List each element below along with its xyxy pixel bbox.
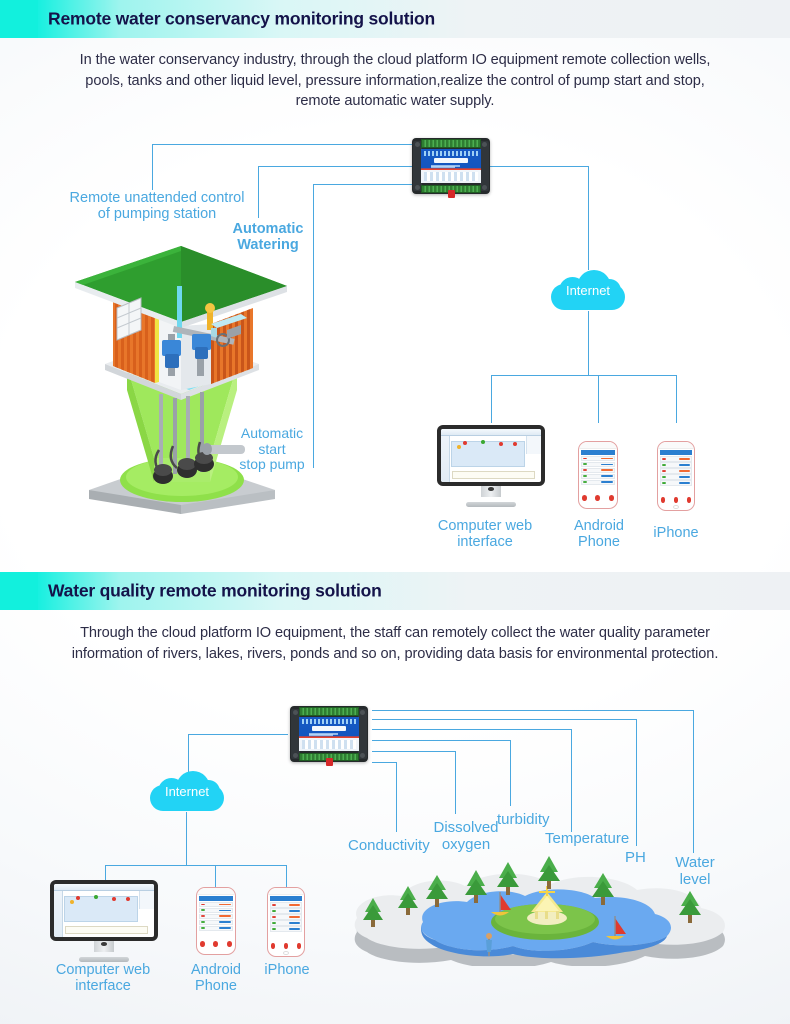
computer-web-interface-device-2 — [50, 880, 158, 962]
internet-cloud-1: Internet — [551, 270, 625, 310]
label-iphone-2: iPhone — [252, 962, 322, 978]
label-turbidity: turbidity — [497, 812, 550, 829]
line-automatic-pump-h — [313, 184, 414, 185]
line-module-to-internet-h — [489, 166, 589, 167]
line-to-iphone — [676, 375, 677, 423]
android-phone-device-1 — [578, 441, 618, 509]
internet-cloud-2: Internet — [150, 771, 224, 811]
computer-web-interface-device-1 — [437, 425, 545, 507]
line-module-to-internet-2-h — [188, 734, 288, 735]
line-to-iphone-2 — [286, 865, 287, 887]
line-internet-2-down — [186, 812, 187, 865]
line-to-android-2 — [215, 865, 216, 887]
line-sensor-dissolved-oxygen-h — [372, 751, 455, 752]
line-sensor-turbidity-h — [372, 740, 510, 741]
line-device-rail-2 — [105, 865, 286, 866]
pumping-station-illustration — [55, 218, 307, 514]
label-android-phone-2: Android Phone — [175, 962, 257, 994]
section-1-accent-block — [0, 0, 38, 38]
line-to-computer — [491, 375, 492, 423]
line-sensor-water-level-h — [372, 710, 693, 711]
line-sensor-conductivity-h — [372, 762, 396, 763]
line-automatic-watering-h — [258, 166, 414, 167]
internet-cloud-1-label: Internet — [551, 283, 625, 298]
label-computer-web-interface-2: Computer web interface — [42, 962, 164, 994]
iphone-device-1 — [657, 441, 695, 511]
section-2-header-band: Water quality remote monitoring solution — [0, 572, 790, 610]
line-module-to-internet-2-v — [188, 734, 189, 774]
lake-illustration — [345, 856, 737, 966]
infographic-page: Remote water conservancy monitoring solu… — [0, 0, 790, 1024]
line-sensor-ph-v — [636, 719, 637, 846]
section-1-header-band: Remote water conservancy monitoring solu… — [0, 0, 790, 38]
label-conductivity: Conductivity — [348, 838, 430, 855]
section-1-intro: In the water conservancy industry, throu… — [0, 50, 790, 112]
section-2-accent-block — [0, 572, 38, 610]
label-computer-web-interface-1: Computer web interface — [424, 518, 546, 550]
line-remote-control-h — [152, 144, 414, 145]
section-2-intro: Through the cloud platform IO equipment,… — [0, 623, 790, 664]
internet-cloud-2-label: Internet — [150, 784, 224, 799]
io-module-device-1 — [412, 138, 490, 194]
io-module-device-2 — [290, 706, 368, 762]
line-sensor-dissolved-oxygen-v — [455, 751, 456, 814]
line-to-android — [598, 375, 599, 423]
label-android-phone-1: Android Phone — [558, 518, 640, 550]
label-iphone-1: iPhone — [640, 525, 712, 541]
section-1-title: Remote water conservancy monitoring solu… — [48, 9, 435, 30]
android-phone-device-2 — [196, 887, 236, 955]
line-sensor-ph-h — [372, 719, 636, 720]
label-temperature: Temperature — [545, 831, 629, 848]
line-sensor-water-level-v — [693, 710, 694, 853]
section-2-title: Water quality remote monitoring solution — [48, 581, 382, 602]
label-dissolved-oxygen: Dissolved oxygen — [430, 820, 502, 854]
line-module-to-internet-v — [588, 166, 589, 270]
line-sensor-temperature-v — [571, 729, 572, 832]
line-automatic-watering-v — [258, 166, 259, 218]
iphone-device-2 — [267, 887, 305, 957]
line-sensor-conductivity-v — [396, 762, 397, 832]
line-sensor-temperature-h — [372, 729, 571, 730]
line-device-rail — [491, 375, 677, 376]
line-remote-control-v — [152, 144, 153, 190]
line-internet-down — [588, 311, 589, 375]
line-sensor-turbidity-v — [510, 740, 511, 806]
